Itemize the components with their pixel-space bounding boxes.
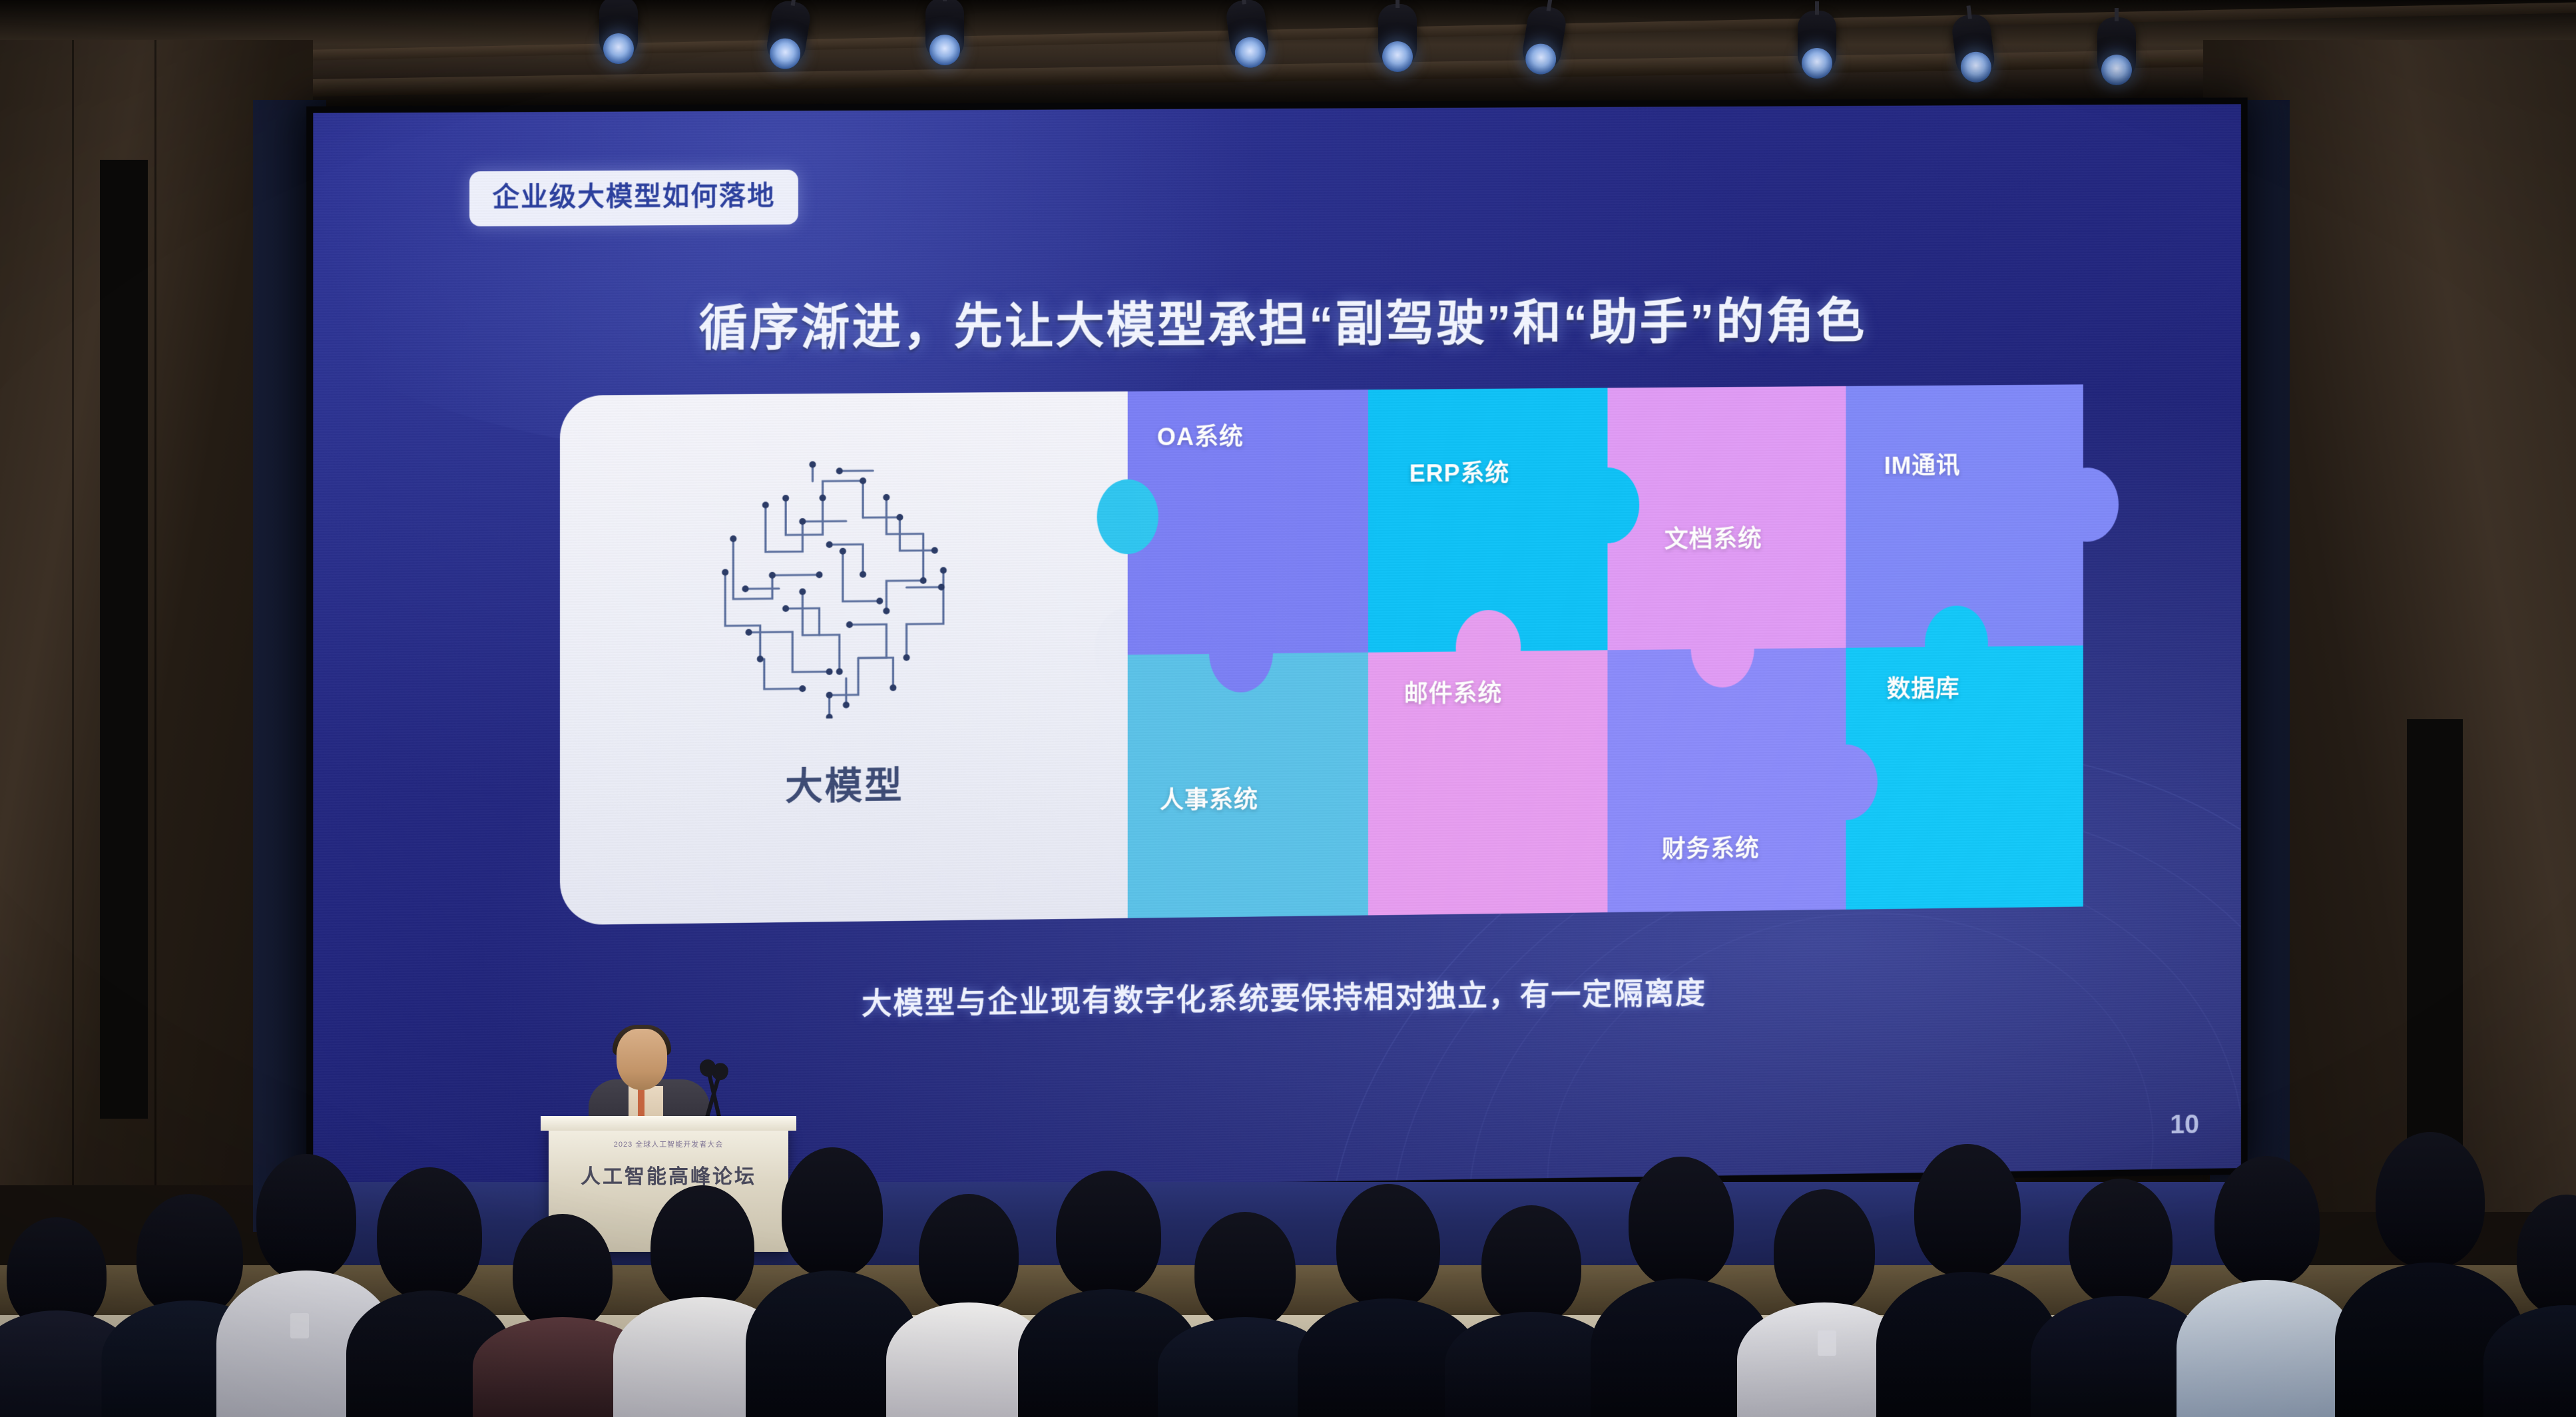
system-tile-database[interactable]: 数据库 bbox=[1846, 645, 2083, 909]
system-tile-hr[interactable]: 人事系统 bbox=[1128, 653, 1368, 918]
system-tile-label: 邮件系统 bbox=[1404, 674, 1503, 709]
core-model-panel: 大模型 bbox=[560, 392, 1128, 925]
stage-carpet bbox=[0, 1315, 2576, 1417]
wall-dark-column-right bbox=[2407, 719, 2463, 1225]
system-tile-label: 财务系统 bbox=[1662, 829, 1760, 864]
system-tile-grid: OA系统 ERP系统 文档系统 IM通讯 bbox=[1128, 384, 2083, 918]
puzzle-diagram: 大模型 OA系统 ERP系统 文档系统 bbox=[560, 384, 2083, 925]
system-tile-finance[interactable]: 财务系统 bbox=[1607, 648, 1846, 912]
system-tile-label: 文档系统 bbox=[1665, 519, 1762, 555]
slide-title: 循序渐进，先让大模型承担“副驾驶”和“助手”的角色 bbox=[313, 279, 2241, 362]
circuit-brain-icon bbox=[685, 457, 981, 720]
slide-page-number: 10 bbox=[2170, 1110, 2199, 1140]
puzzle-knob bbox=[1826, 759, 1864, 806]
system-tile-mail[interactable]: 邮件系统 bbox=[1368, 650, 1608, 915]
stage-light bbox=[1798, 11, 1836, 75]
system-tile-label: 数据库 bbox=[1887, 669, 1960, 705]
wall-dark-column-left bbox=[100, 160, 148, 1119]
system-tile-im[interactable]: IM通讯 bbox=[1846, 384, 2083, 648]
puzzle-knob bbox=[1588, 482, 1627, 529]
puzzle-knob bbox=[1222, 637, 1261, 678]
puzzle-knob bbox=[2067, 482, 2105, 527]
puzzle-knob bbox=[1108, 493, 1148, 541]
stage-light bbox=[1378, 4, 1417, 68]
core-model-label: 大模型 bbox=[560, 753, 1128, 814]
podium: 2023 全球人工智能开发者大会 人工智能高峰论坛 bbox=[549, 1125, 788, 1252]
stage-light bbox=[599, 0, 638, 60]
system-tile-erp[interactable]: ERP系统 bbox=[1368, 388, 1608, 652]
slide-section-badge: 企业级大模型如何落地 bbox=[469, 170, 798, 226]
system-tile-label: ERP系统 bbox=[1410, 453, 1510, 489]
podium-event-title: 人工智能高峰论坛 bbox=[581, 1160, 756, 1189]
system-tile-label: IM通讯 bbox=[1884, 446, 1961, 481]
stage-light bbox=[925, 0, 964, 61]
podium-logo-text: 2023 全球人工智能开发者大会 bbox=[614, 1139, 724, 1149]
conference-hall: 企业级大模型如何落地 循序渐进，先让大模型承担“副驾驶”和“助手”的角色 bbox=[0, 0, 2576, 1417]
system-tile-label: OA系统 bbox=[1157, 417, 1244, 452]
system-tile-label: 人事系统 bbox=[1160, 780, 1258, 816]
puzzle-knob bbox=[1704, 634, 1742, 673]
slide-section-badge-label: 企业级大模型如何落地 bbox=[493, 182, 776, 211]
stage-light bbox=[2097, 17, 2136, 81]
